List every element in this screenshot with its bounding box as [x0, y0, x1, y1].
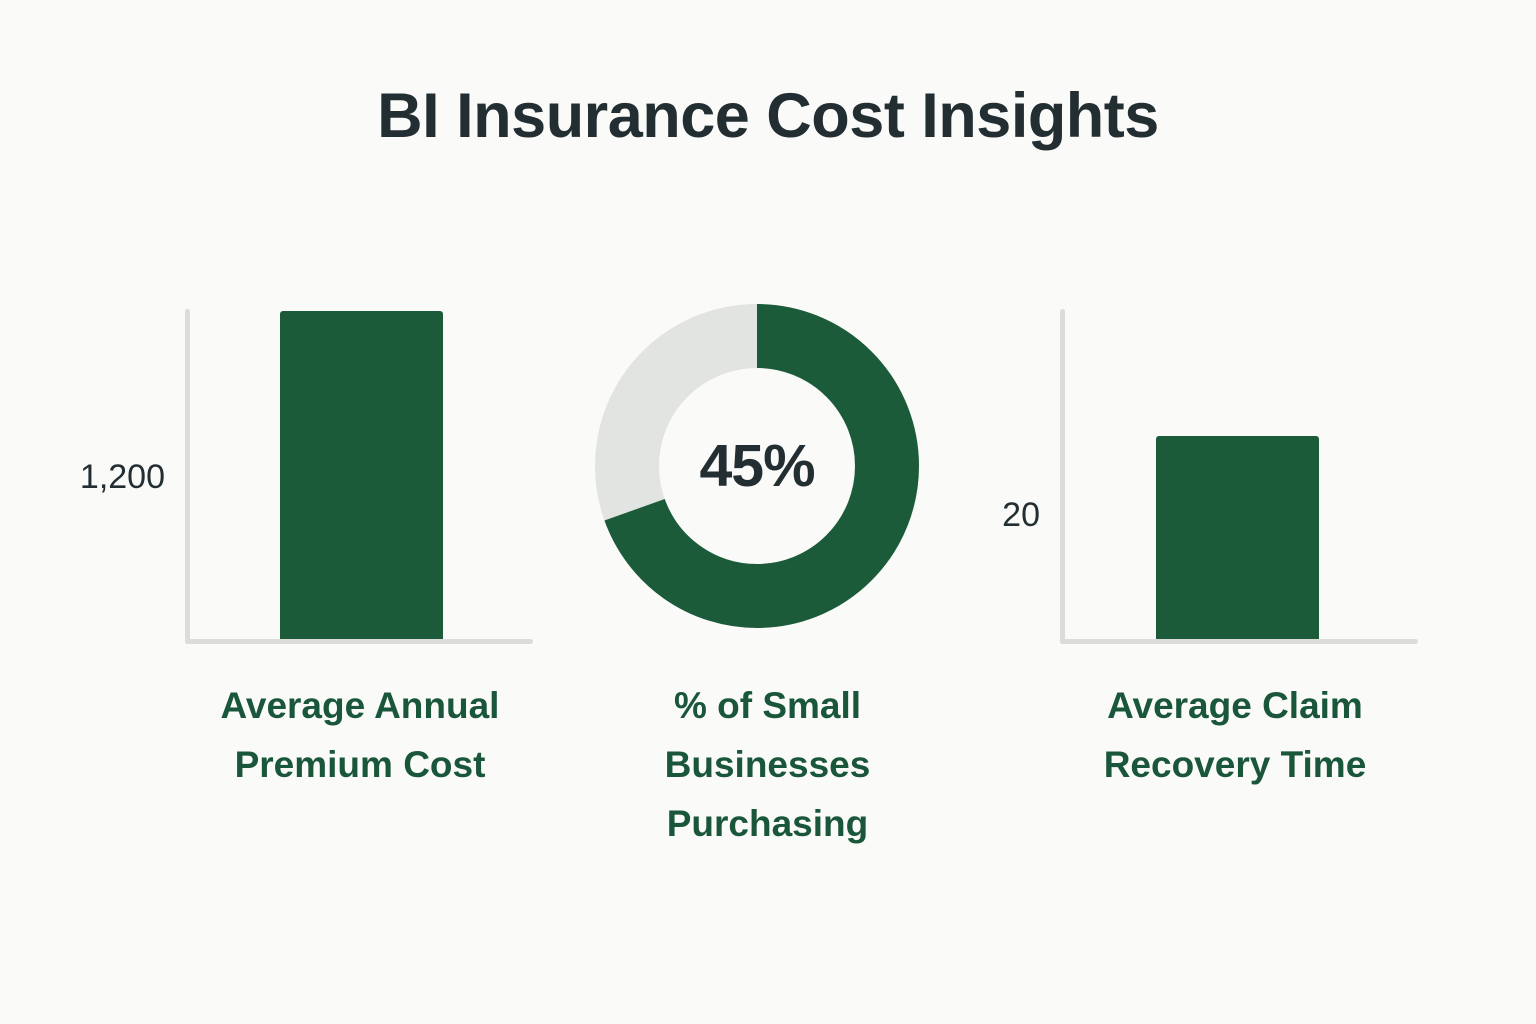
caption-average-claim-recovery-time: Average Claim Recovery Time	[1030, 676, 1440, 794]
caption-line: Recovery Time	[1030, 735, 1440, 794]
x-axis-line-right	[1060, 639, 1418, 644]
bar-average-annual-premium-cost[interactable]	[280, 311, 443, 639]
panel-average-annual-premium-cost: 1,200	[60, 296, 540, 644]
bar-chart-left: 1,200	[60, 296, 540, 644]
caption-percent-small-businesses-purchasing: % of Small Businesses Purchasing	[600, 676, 935, 854]
caption-line: Businesses	[600, 735, 935, 794]
panels-row: 1,200 45% 20 Average Annual	[0, 0, 1536, 1024]
bar-chart-right: 20	[975, 296, 1445, 644]
value-label-left: 1,200	[60, 458, 165, 497]
caption-line: Average Annual	[175, 676, 545, 735]
bar-average-claim-recovery-time[interactable]	[1156, 436, 1319, 639]
donut-chart-center: 45%	[585, 296, 950, 644]
y-axis-line-left	[185, 309, 190, 644]
y-axis-line-right	[1060, 309, 1065, 644]
caption-line: Average Claim	[1030, 676, 1440, 735]
caption-line: % of Small	[600, 676, 935, 735]
donut-center-value: 45%	[595, 304, 919, 628]
value-label-right: 20	[975, 496, 1040, 535]
panel-average-claim-recovery-time: 20	[975, 296, 1445, 644]
panel-percent-small-businesses-purchasing: 45%	[585, 296, 950, 644]
x-axis-line-left	[185, 639, 533, 644]
caption-line: Purchasing	[600, 794, 935, 853]
caption-average-annual-premium-cost: Average Annual Premium Cost	[175, 676, 545, 794]
caption-line: Premium Cost	[175, 735, 545, 794]
